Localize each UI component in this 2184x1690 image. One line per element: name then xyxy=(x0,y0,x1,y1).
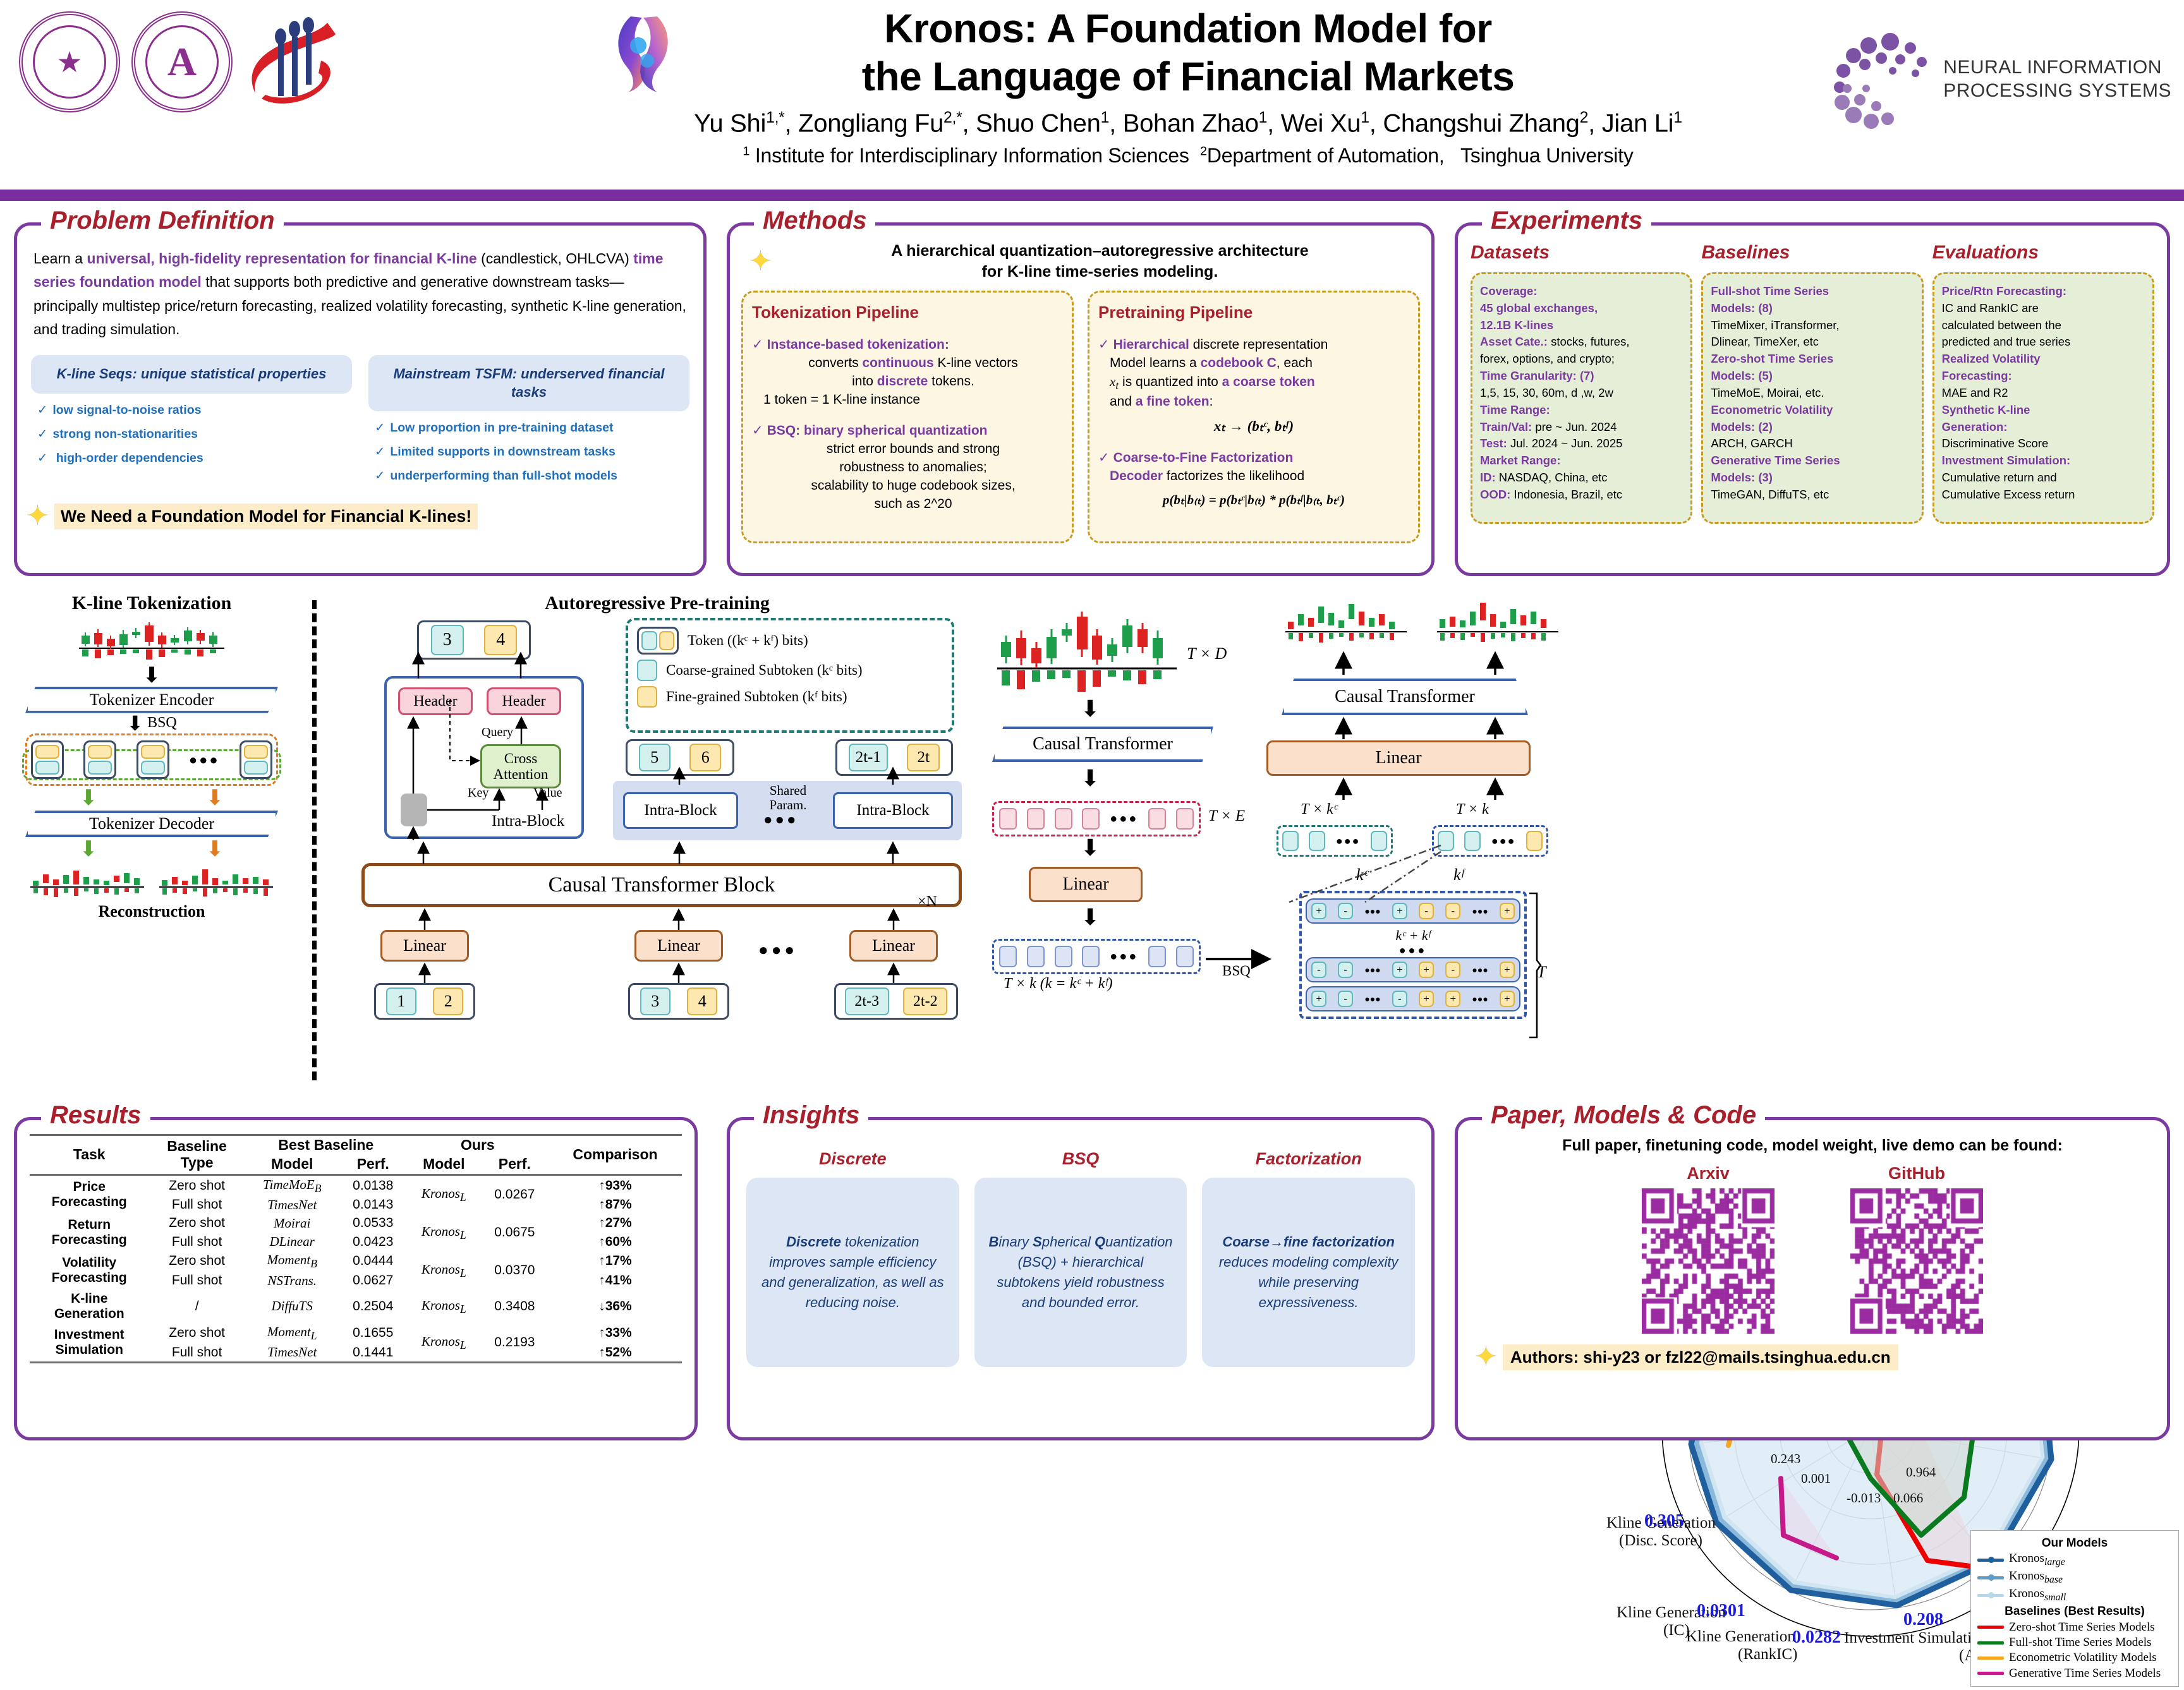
bit-cell: - xyxy=(1311,962,1326,978)
results-table-head: Task BaselineType Best Baseline Ours Com… xyxy=(30,1135,682,1175)
list-item: ✓Low proportion in pre-training dataset xyxy=(375,420,689,435)
mainstream-tsfm-column: Mainstream TSFM: underserved financial t… xyxy=(368,355,689,492)
card-line: forex, options, and crypto; xyxy=(1480,351,1683,368)
generated-candlestick-icon xyxy=(1283,593,1409,651)
intra-block: Intra-Block xyxy=(833,792,953,829)
shared-param-band: Intra-Block Intra-Block Shared Param. ●●… xyxy=(613,781,962,840)
causal-transformer-block-right: Causal Transformer xyxy=(1282,679,1528,715)
legend-swatch-econometric xyxy=(1977,1657,2004,1660)
baseline-model-cell: MomentB xyxy=(245,1251,339,1271)
card-line: Zero-shot Time Series xyxy=(1711,351,1914,368)
bsq-label: BSQ xyxy=(1222,963,1251,979)
section-insights: Insights Discrete Discrete tokenization … xyxy=(727,1117,1435,1440)
card-line: Time Range: xyxy=(1480,402,1683,419)
bullet-strong: continuous xyxy=(863,356,934,370)
bullet-strong: BSQ: binary spherical quantization xyxy=(767,423,988,438)
card-line: MAE and R2 xyxy=(1942,385,2145,402)
baseline-model-cell: Moirai xyxy=(245,1214,339,1233)
col-baseline-model: Model xyxy=(245,1155,339,1174)
results-table-body: PriceForecastingZero shotTimeMoEB0.0138K… xyxy=(30,1174,682,1363)
problem-callout-banner: ✦ We Need a Foundation Model for Financi… xyxy=(26,502,703,530)
connector-lines xyxy=(1251,839,1453,908)
insight-factorization: Factorization Coarse→fine factorization … xyxy=(1202,1149,1415,1367)
legend-item: Kronosbase xyxy=(1977,1569,2172,1586)
legend-item: Full-shot Time Series Models xyxy=(1977,1635,2172,1650)
arrow-down-icon: ⬇ xyxy=(1081,768,1100,788)
legend-swatch-zero-shot xyxy=(1977,1626,2004,1629)
bit-cell: + xyxy=(1500,903,1515,919)
bullet-strong: discrete xyxy=(877,374,928,389)
axis-label: Kline Generation xyxy=(1686,1628,1795,1645)
mainstream-tsfm-list: ✓Low proportion in pre-training dataset … xyxy=(368,420,689,483)
card-line: Generation: xyxy=(1942,419,2145,436)
section-methods: Methods ✦ A hierarchical quantization–au… xyxy=(727,222,1435,576)
fine-subtoken xyxy=(244,745,268,759)
experiments-title: Experiments xyxy=(1482,207,1651,235)
list-item-label: high-order dependencies xyxy=(52,451,203,465)
section-paper-models-code: Paper, Models & Code Full paper, finetun… xyxy=(1455,1117,2170,1440)
list-item: ✓strong non-stationarities xyxy=(37,426,352,442)
sparkle-icon: ✦ xyxy=(1474,1343,1498,1371)
task-cell: K-lineGeneration xyxy=(30,1290,149,1323)
ours-perf-cell: 0.0370 xyxy=(481,1251,549,1289)
ellipsis-icon: ●●● xyxy=(758,940,798,960)
comparison-cell: ↑41% xyxy=(549,1272,682,1290)
bsq-label: BSQ xyxy=(147,715,177,732)
card-value: IC and RankIC are xyxy=(1942,301,2039,315)
insight-title: Factorization xyxy=(1202,1149,1415,1169)
neurips-label: NEURAL INFORMATION PROCESSING SYSTEMS xyxy=(1943,56,2171,103)
bsq-bit-matrix: + - ●●● + - - ●●● + kᶜ + kᶠ ●●● - - ●●● … xyxy=(1299,891,1527,1019)
fine-subtoken-value: 2 xyxy=(433,987,463,1015)
card-value: forex, options, and crypto; xyxy=(1480,352,1615,365)
card-line: IC and RankIC are xyxy=(1942,300,2145,317)
bullet-text: such as 2^20 xyxy=(763,495,1063,514)
baseline-value-label: -0.013 xyxy=(1847,1490,1881,1506)
comparison-cell: ↑33% xyxy=(549,1323,682,1343)
card-line: Price/Rtn Forecasting: xyxy=(1942,283,2145,300)
task-cell: PriceForecasting xyxy=(30,1174,149,1214)
baseline-perf-cell: 0.0533 xyxy=(339,1214,407,1233)
input-token-box: 2t-3 2t-2 xyxy=(834,983,958,1020)
card-line: 12.1B K-lines xyxy=(1480,317,1683,334)
legend-label: Kronoslarge xyxy=(2009,1551,2065,1569)
list-item-label: strong non-stationarities xyxy=(52,427,198,441)
col-task: Task xyxy=(30,1135,149,1175)
legend-coarse-label: Coarse-grained Subtoken (kᶜ bits) xyxy=(666,662,863,679)
shared-param-line-2: Param. xyxy=(753,798,823,812)
axis-label: (RankIC) xyxy=(1738,1646,1797,1663)
neurips-line-1: NEURAL INFORMATION xyxy=(1943,56,2171,80)
card-line: Test: Jul. 2024 ~ Jun. 2025 xyxy=(1480,435,1683,452)
bullet-text: : xyxy=(1210,394,1213,409)
github-qr-code-icon[interactable] xyxy=(1850,1188,1983,1334)
coarse-subtoken xyxy=(141,761,165,775)
title-rule xyxy=(1651,222,2148,226)
equation-2: p(bₜ|b₍ₜ) = p(bₜᶜ|b₍ₜ) * p(bₜᶠ|b₍ₜ, bₜᶜ) xyxy=(1098,491,1409,509)
legend-item: Generative Time Series Models xyxy=(1977,1666,2172,1681)
bit-cell: - xyxy=(1338,962,1353,978)
ellipsis-icon: ●●● xyxy=(1110,950,1138,964)
ours-perf-cell: 0.0675 xyxy=(481,1214,549,1251)
kline-seqs-list: ✓low signal-to-noise ratios ✓strong non-… xyxy=(31,402,352,466)
card-line: Econometric Volatility xyxy=(1711,402,1914,419)
linear-block: Linear xyxy=(849,930,938,962)
card-key: Price/Rtn Forecasting: xyxy=(1942,284,2066,298)
legend-item: Kronoslarge xyxy=(1977,1551,2172,1569)
bit-cell: - xyxy=(1392,991,1407,1007)
intra-block: Intra-Block xyxy=(623,792,738,829)
coarse-subtoken xyxy=(244,761,268,775)
card-value: TimeMixer, iTransformer, xyxy=(1711,318,1839,332)
card-key: Realized Volatility xyxy=(1942,352,2041,365)
bit-cell: + xyxy=(1311,991,1326,1007)
neurips-logo: NEURAL INFORMATION PROCESSING SYSTEMS xyxy=(1829,25,2171,133)
methods-lead-line-1: A hierarchical quantization–autoregressi… xyxy=(780,241,1420,262)
input-candlestick-chart-icon xyxy=(25,620,278,665)
card-value: Discriminative Score xyxy=(1942,437,2049,450)
ellipsis-icon: ●●● xyxy=(763,811,799,829)
insight-title: Discrete xyxy=(746,1149,959,1169)
section-results: Results Task BaselineType Best Baseline … xyxy=(14,1117,698,1440)
arrow-down-icon: ⬇ xyxy=(1081,838,1100,858)
pretraining-pipeline-card: Pretraining Pipeline ✓Hierarchical discr… xyxy=(1088,291,1420,543)
card-key: Synthetic K-line xyxy=(1942,403,2030,416)
tokenization-pipeline-title: Tokenization Pipeline xyxy=(752,303,1063,322)
token-box xyxy=(637,627,679,655)
legend-swatch-kronos-small xyxy=(1977,1594,2004,1597)
card-value: MAE and R2 xyxy=(1942,386,2008,399)
embedding-cell xyxy=(1055,808,1072,830)
ours-value-label: 0.0282 xyxy=(1792,1627,1841,1647)
baseline-perf-cell: 0.2504 xyxy=(339,1290,407,1323)
results-table: Task BaselineType Best Baseline Ours Com… xyxy=(30,1134,682,1363)
axis-label: Investment Simulation xyxy=(1844,1629,1988,1646)
reconstructed-candlestick-icon xyxy=(28,862,147,901)
col-ours-model: Model xyxy=(407,1155,481,1174)
card-key: Generative Time Series xyxy=(1711,454,1840,467)
bit-cell: + xyxy=(1419,962,1434,978)
card-key: Time Range: xyxy=(1480,403,1550,416)
insight-discrete: Discrete Discrete tokenization improves … xyxy=(746,1149,959,1367)
problem-definition-title: Problem Definition xyxy=(41,207,284,235)
baseline-model-cell: TimeMoEB xyxy=(245,1174,339,1196)
col-baseline-type: BaselineType xyxy=(149,1135,245,1175)
title-rule xyxy=(153,1117,676,1120)
baseline-type-cell: / xyxy=(149,1290,245,1323)
card-key: Models: (2) xyxy=(1711,420,1773,433)
baseline-model-cell: NSTrans. xyxy=(245,1272,339,1290)
check-icon: ✓ xyxy=(752,337,763,352)
poster-header: ★ A xyxy=(0,0,2184,190)
dim-te-label: T × E xyxy=(1208,807,1245,825)
ellipsis-icon: ●●● xyxy=(1472,994,1488,1004)
reconstruction-label: Reconstruction xyxy=(25,902,278,921)
legend-swatch-kronos-base xyxy=(1977,1576,2004,1579)
card-value: calculated between the xyxy=(1942,318,2061,332)
card-line: OOD: Indonesia, Brazil, etc xyxy=(1480,486,1683,504)
tokenization-bullet-2: ✓BSQ: binary spherical quantization stri… xyxy=(752,422,1063,514)
arxiv-qr-code-icon[interactable] xyxy=(1642,1188,1774,1334)
fine-subtoken xyxy=(1526,831,1543,851)
sparkle-icon: ✦ xyxy=(749,248,772,275)
intra-block-detail: Header Header CrossAttention Query Key V… xyxy=(384,676,584,839)
reconstructed-candlestick-icon xyxy=(157,862,276,901)
card-line: Train/Val: pre ~ Jun. 2024 xyxy=(1480,419,1683,436)
ellipsis-icon: ●●● xyxy=(1472,906,1488,916)
qr-arxiv-label: Arxiv xyxy=(1642,1164,1774,1183)
fine-subtoken xyxy=(88,745,112,759)
token-sequence-group: ●●● xyxy=(25,733,278,786)
latent-sequence: ●●● xyxy=(992,939,1201,974)
card-key: Models: (8) xyxy=(1711,301,1773,315)
coarse-subtoken-value: 3 xyxy=(640,987,670,1015)
fine-subtoken-value: 4 xyxy=(687,987,717,1015)
mainstream-tsfm-header: Mainstream TSFM: underserved financial t… xyxy=(368,355,689,411)
legend-item: Econometric Volatility Models xyxy=(1977,1650,2172,1665)
experiments-columns: Datasets Coverage:45 global exchanges,12… xyxy=(1458,226,2167,524)
para-pre: Learn a xyxy=(33,250,87,267)
baseline-value-label: 0.001 xyxy=(1801,1471,1831,1486)
tokenizer-encoder-block: Tokenizer Encoder xyxy=(25,687,278,713)
check-icon: ✓ xyxy=(375,421,385,435)
card-value: TimeMoE, Moirai, etc. xyxy=(1711,386,1824,399)
baseline-model-cell: MomentL xyxy=(245,1323,339,1343)
card-key: 45 global exchanges, xyxy=(1480,301,1598,315)
card-line: Full-shot Time Series xyxy=(1711,283,1914,300)
bullet-text: K-line vectors xyxy=(934,356,1018,370)
title-rule xyxy=(863,1117,1412,1120)
list-item: ✓Limited supports in downstream tasks xyxy=(375,444,689,459)
card-line: Cumulative Excess return xyxy=(1942,486,2145,504)
card-value: pre ~ Jun. 2024 xyxy=(1532,420,1617,433)
coarse-subtoken xyxy=(641,631,657,650)
fine-subtoken xyxy=(659,631,675,650)
tsinghua-automation-seal-icon: A xyxy=(131,11,233,112)
problem-two-columns: K-line Seqs: unique statistical properti… xyxy=(17,355,703,492)
check-icon: ✓ xyxy=(37,403,47,417)
bullet-text: discrete representation xyxy=(1189,337,1328,352)
insight-text: reduces modeling complexity while preser… xyxy=(1219,1254,1398,1310)
embedding-cell xyxy=(1082,808,1100,830)
coarse-subtoken-value: 1 xyxy=(386,987,416,1015)
ellipsis-icon: ●●● xyxy=(189,752,220,768)
legend-label: Kronosbase xyxy=(2009,1569,2063,1586)
latent-cell xyxy=(1082,946,1100,967)
card-key: Time Granularity: (7) xyxy=(1480,369,1594,382)
bullet-text: robustness to anomalies; xyxy=(763,459,1063,477)
card-line: TimeMoE, Moirai, etc. xyxy=(1711,385,1914,402)
insight-bold: Discrete xyxy=(786,1234,841,1250)
arrow-down-icon: ⬇ xyxy=(80,788,98,808)
dim-tk-label: T × k (k = kᶜ + kᶠ) xyxy=(1004,975,1113,993)
coarse-subtoken xyxy=(88,761,112,775)
baseline-model-cell: TimesNet xyxy=(245,1196,339,1214)
baseline-perf-cell: 0.0423 xyxy=(339,1233,407,1251)
ours-value-label: 0.208 xyxy=(1903,1610,1943,1629)
baseline-perf-cell: 0.0143 xyxy=(339,1196,407,1214)
input-candlestick-chart-icon xyxy=(992,605,1182,703)
embedding-cell xyxy=(1027,808,1045,830)
methods-lead-line-2: for K-line time-series modeling. xyxy=(780,262,1420,282)
list-item-label: Low proportion in pre-training dataset xyxy=(390,421,613,435)
bullet-text: tokens. xyxy=(928,374,974,389)
ellipsis-icon: ●●● xyxy=(1472,965,1488,975)
card-line: ARCH, GARCH xyxy=(1711,435,1914,452)
pretraining-bullet-2: ✓Coarse-to-Fine Factorization Decoder fa… xyxy=(1098,449,1409,509)
token-legend: Token ((kᶜ + kᶠ) bits) Coarse-grained Su… xyxy=(626,618,954,733)
card-key: ID: xyxy=(1480,471,1496,484)
bullet-strong: Instance-based tokenization: xyxy=(767,337,949,352)
fine-subtoken xyxy=(35,745,59,759)
title-line-2: the Language of Financial Markets xyxy=(594,53,1782,101)
dim-td-label: T × D xyxy=(1187,644,1227,663)
sparkle-icon: ✦ xyxy=(26,502,49,530)
x-t-symbol: xt xyxy=(1110,374,1119,389)
bit-cell: + xyxy=(1419,991,1434,1007)
bullet-text: and xyxy=(1110,394,1136,409)
bullet-strong: a coarse token xyxy=(1222,375,1315,389)
list-item: ✓ high-order dependencies xyxy=(37,450,352,466)
bullet-text: 1 token = 1 K-line instance xyxy=(763,391,1063,409)
shared-param-label: Shared Param. xyxy=(753,783,823,812)
insights-cards: Discrete Discrete tokenization improves … xyxy=(730,1120,1431,1367)
kronos-logo-icon xyxy=(605,13,681,95)
radar-legend: Our Models Kronoslarge Kronosbase Kronos… xyxy=(1970,1530,2179,1687)
card-key: Train/Val: xyxy=(1480,420,1532,433)
card-value: Cumulative return and xyxy=(1942,471,2057,484)
card-line: Investment Simulation: xyxy=(1942,452,2145,469)
legend-label: Generative Time Series Models xyxy=(2009,1666,2161,1681)
letter-a-icon: A xyxy=(167,39,197,85)
bullet-text: , each xyxy=(1277,356,1313,370)
bullet-strong: a fine token xyxy=(1136,394,1210,409)
latent-cell xyxy=(1148,946,1166,967)
comparison-cell: ↑93% xyxy=(549,1174,682,1196)
baseline-perf-cell: 0.0138 xyxy=(339,1174,407,1196)
baseline-type-cell: Zero shot xyxy=(149,1251,245,1271)
arrow-down-icon: ⬇ xyxy=(25,666,278,685)
ours-model-cell: KronosL xyxy=(407,1251,481,1289)
ellipsis-icon: ●●● xyxy=(1491,835,1516,848)
evaluations-column: Evaluations Price/Rtn Forecasting: IC an… xyxy=(1932,242,2154,524)
comparison-cell: ↓36% xyxy=(549,1290,682,1323)
pretraining-bullet-1: ✓Hierarchical discrete representation Mo… xyxy=(1098,336,1409,437)
card-line: TimeGAN, DiffuTS, etc xyxy=(1711,486,1914,504)
card-line: ID: NASDAQ, China, etc xyxy=(1480,469,1683,486)
ours-model-cell: KronosL xyxy=(407,1214,481,1251)
kline-seqs-column: K-line Seqs: unique statistical properti… xyxy=(31,355,352,492)
card-key: Coverage: xyxy=(1480,284,1537,298)
qr-github[interactable]: GitHub xyxy=(1850,1164,1983,1337)
baselines-column: Baselines Full-shot Time SeriesModels: (… xyxy=(1701,242,1923,524)
bit-row: + - ●●● - + + ●●● + xyxy=(1306,986,1520,1011)
ours-value-label: 0.305 xyxy=(1644,1511,1684,1531)
token-box xyxy=(31,740,64,779)
qr-arxiv[interactable]: Arxiv xyxy=(1642,1164,1774,1337)
baseline-type-cell: Full shot xyxy=(149,1272,245,1290)
card-key: Forecasting: xyxy=(1942,369,2012,382)
table-header-row: Task BaselineType Best Baseline Ours Com… xyxy=(30,1135,682,1155)
col-baseline-perf: Perf. xyxy=(339,1155,407,1174)
baselines-title: Baselines xyxy=(1701,242,1923,263)
baseline-perf-cell: 0.0627 xyxy=(339,1272,407,1290)
col-best-baseline: Best Baseline xyxy=(245,1135,407,1155)
baseline-perf-cell: 0.0444 xyxy=(339,1251,407,1271)
card-line: Models: (5) xyxy=(1711,368,1914,385)
datasets-card: Coverage:45 global exchanges,12.1B K-lin… xyxy=(1471,272,1692,524)
vertical-divider xyxy=(312,600,317,1080)
baseline-type-cell: Full shot xyxy=(149,1343,245,1363)
baseline-model-cell: DiffuTS xyxy=(245,1290,339,1323)
bullet-text: into xyxy=(852,374,877,389)
baseline-model-cell: TimesNet xyxy=(245,1343,339,1363)
legend-swatch-generative xyxy=(1977,1672,2004,1675)
para-highlight-1: universal, high-fidelity representation … xyxy=(87,250,476,267)
card-line: Forecasting: xyxy=(1942,368,2145,385)
baseline-value-label: 0.243 xyxy=(1771,1451,1800,1466)
header-divider-band xyxy=(0,190,2184,201)
tokenization-pipeline-card: Tokenization Pipeline ✓Instance-based to… xyxy=(741,291,1074,543)
insight-bold: Coarse→fine factorization xyxy=(1222,1234,1395,1250)
card-line: Models: (2) xyxy=(1711,419,1914,436)
evaluations-title: Evaluations xyxy=(1932,242,2154,263)
card-line: Dlinear, TimeXer, etc xyxy=(1711,334,1914,351)
legend-heading-our-models: Our Models xyxy=(1977,1536,2172,1551)
fine-subtoken-value: 2t-2 xyxy=(903,987,947,1015)
insight-bsq: BSQ Binary Spherical Quantization (BSQ) … xyxy=(974,1149,1187,1367)
datasets-column: Datasets Coverage:45 global exchanges,12… xyxy=(1471,242,1692,524)
check-icon: ✓ xyxy=(752,423,763,438)
card-key: Zero-shot Time Series xyxy=(1711,352,1833,365)
baseline-type-cell: Zero shot xyxy=(149,1323,245,1343)
col-ours: Ours xyxy=(407,1135,549,1155)
causal-transformer-block-left: Causal Transformer xyxy=(992,727,1213,762)
section-problem-definition: Problem Definition Learn a universal, hi… xyxy=(14,222,707,576)
legend-token-label: Token ((kᶜ + kᶠ) bits) xyxy=(688,632,808,649)
list-item-label: Limited supports in downstream tasks xyxy=(390,445,615,459)
card-value: Indonesia, Brazil, etc xyxy=(1510,488,1622,501)
ours-value-label: 0.0301 xyxy=(1697,1601,1745,1621)
institution-logos: ★ A xyxy=(19,11,339,112)
ellipsis-icon: ●●● xyxy=(1306,944,1520,957)
title-block: Kronos: A Foundation Model for the Langu… xyxy=(594,5,1782,167)
check-icon: ✓ xyxy=(375,445,385,459)
bit-cell: + xyxy=(1392,962,1407,978)
legend-item: Zero-shot Time Series Models xyxy=(1977,1620,2172,1635)
check-icon: ✓ xyxy=(1098,450,1110,465)
evaluations-card: Price/Rtn Forecasting: IC and RankIC are… xyxy=(1932,272,2154,524)
coarse-subtoken xyxy=(35,761,59,775)
embedding-sequence: ●●● xyxy=(992,801,1201,836)
latent-cell xyxy=(999,946,1017,967)
card-key: Full-shot Time Series xyxy=(1711,284,1829,298)
linear-block: Linear xyxy=(380,930,469,962)
authors-contact-text: Authors: shi-y23 or fzl22@mails.tsinghua… xyxy=(1503,1344,1898,1370)
input-token-box: 3 4 xyxy=(628,983,729,1020)
table-row: PriceForecastingZero shotTimeMoEB0.0138K… xyxy=(30,1174,682,1196)
bullet-text: factorizes the likelihood xyxy=(1163,469,1304,483)
ours-model-cell: KronosL xyxy=(407,1174,481,1214)
check-icon: ✓ xyxy=(37,451,47,465)
card-line: Models: (3) xyxy=(1711,469,1914,486)
bit-row: - - ●●● + + - ●●● + xyxy=(1306,957,1520,982)
comparison-cell: ↑27% xyxy=(549,1214,682,1233)
legend-label: Kronossmall xyxy=(2009,1586,2066,1604)
card-value: NASDAQ, China, etc xyxy=(1496,471,1608,484)
title-line-1: Kronos: A Foundation Model for xyxy=(594,5,1782,53)
title-rule xyxy=(866,222,1412,226)
